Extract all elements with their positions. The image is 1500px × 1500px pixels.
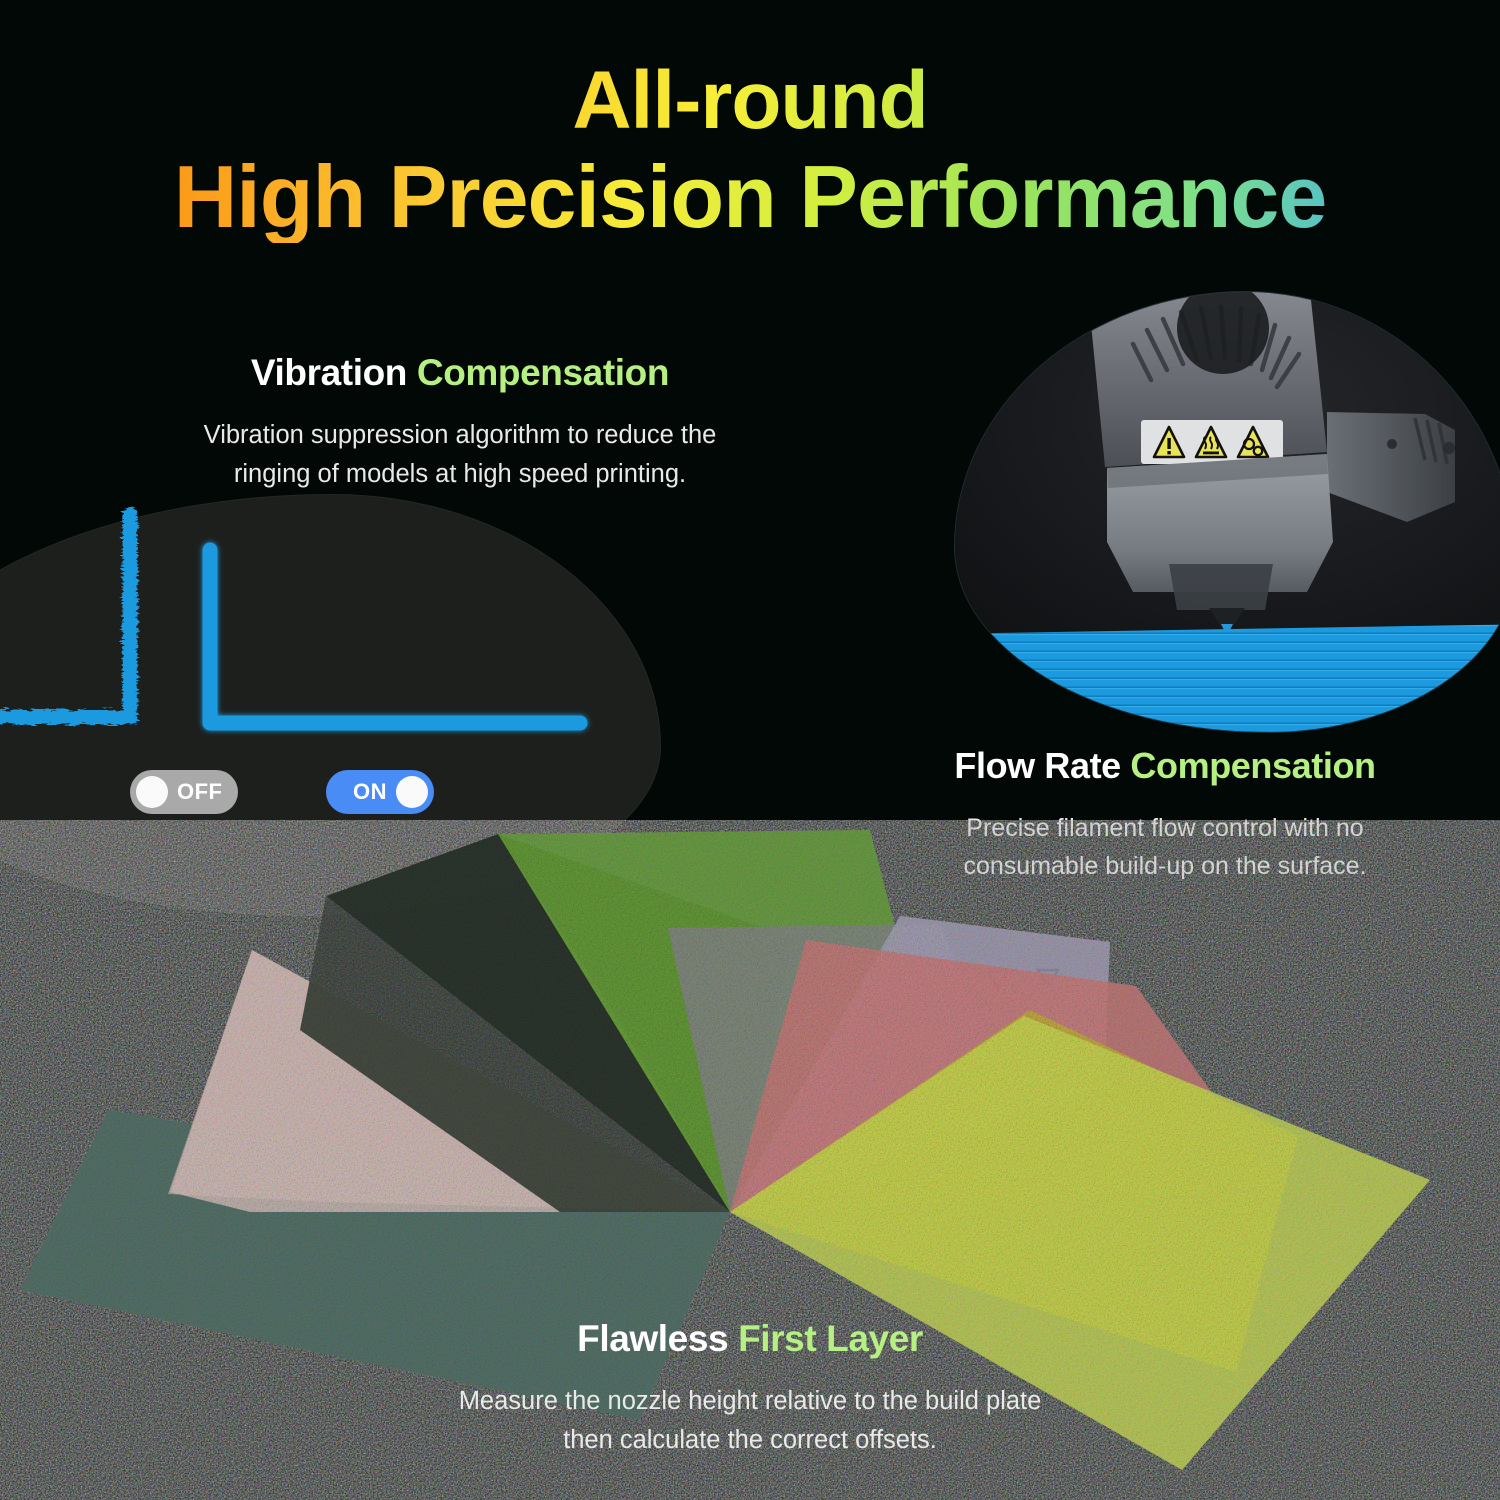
first-layer-body-line-1: Measure the nozzle height relative to th… bbox=[370, 1382, 1130, 1421]
first-layer-body-line-2: then calculate the correct offsets. bbox=[370, 1421, 1130, 1460]
vibration-body-line-1: Vibration suppression algorithm to reduc… bbox=[120, 416, 800, 455]
toggle-off-knob bbox=[136, 776, 168, 808]
toggle-on-knob bbox=[396, 776, 428, 808]
toggle-on-label: ON bbox=[353, 779, 387, 805]
vibration-body: Vibration suppression algorithm to reduc… bbox=[120, 416, 800, 494]
first-layer-heading-green: First Layer bbox=[738, 1318, 923, 1359]
vibration-body-line-2: ringing of models at high speed printing… bbox=[120, 455, 800, 494]
first-layer-heading: Flawless First Layer bbox=[370, 1318, 1130, 1360]
smooth-print-path bbox=[210, 550, 580, 723]
filament-layers bbox=[955, 624, 1500, 732]
vibration-heading-green: Compensation bbox=[417, 352, 669, 393]
toggle-off-label: OFF bbox=[177, 779, 223, 805]
vibration-heading: Vibration Compensation bbox=[120, 352, 800, 394]
vibration-compensation-section: Vibration Compensation Vibration suppres… bbox=[120, 352, 800, 494]
ringing-print-path bbox=[0, 515, 130, 717]
first-layer-heading-white: Flawless bbox=[577, 1318, 728, 1359]
vibration-toggle-on[interactable]: ON bbox=[326, 770, 434, 814]
infographic-canvas: All-round High Precision Performance Vib… bbox=[0, 0, 1500, 1500]
hotend-nozzle-graphic bbox=[955, 292, 1500, 732]
nozzle-tip-icon bbox=[1209, 608, 1245, 632]
first-layer-body: Measure the nozzle height relative to th… bbox=[370, 1382, 1130, 1460]
page-title: All-round High Precision Performance bbox=[0, 58, 1500, 243]
vibration-toggle-off[interactable]: OFF bbox=[130, 770, 238, 814]
flow-rate-heading-green: Compensation bbox=[1130, 745, 1375, 786]
first-layer-section: Flawless First Layer Measure the nozzle … bbox=[370, 1318, 1130, 1460]
flow-rate-illustration bbox=[955, 292, 1500, 732]
vibration-heading-white: Vibration bbox=[251, 352, 407, 393]
warning-sticker bbox=[1141, 420, 1283, 464]
title-line-2: High Precision Performance bbox=[0, 151, 1500, 243]
flow-rate-heading-white: Flow Rate bbox=[954, 745, 1120, 786]
vibration-toggle-group: OFF ON bbox=[130, 770, 434, 814]
flow-rate-heading: Flow Rate Compensation bbox=[870, 745, 1460, 787]
nozzle-blob-background bbox=[955, 292, 1500, 732]
title-line-1: All-round bbox=[0, 58, 1500, 143]
